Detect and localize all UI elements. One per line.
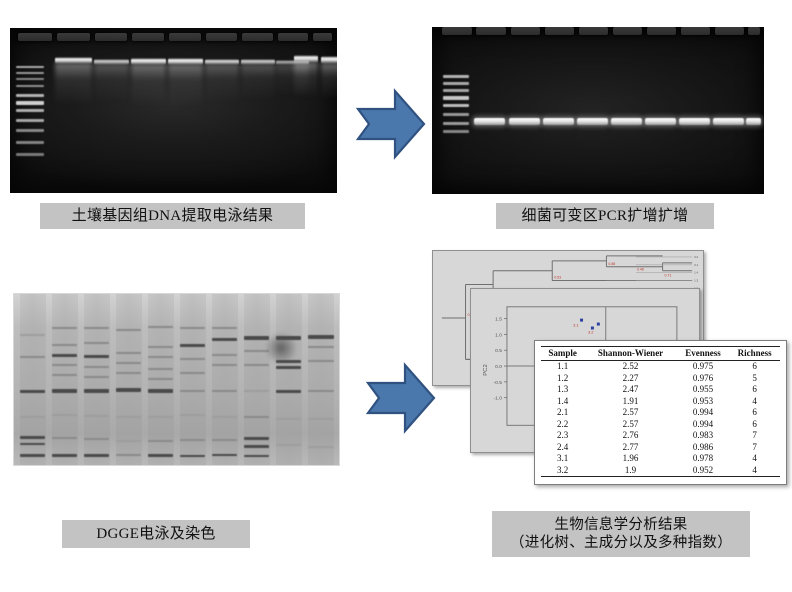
table-row: 1.1 2.52 0.975 6 [541,361,780,373]
caption-pcr: 细菌可变区PCR扩增扩增 [496,203,714,229]
svg-text:1.5: 1.5 [495,317,502,323]
svg-text:-1.0: -1.0 [494,396,503,402]
col-header-sample: Sample [541,347,584,361]
svg-text:-0.5: -0.5 [494,380,503,386]
table-row: 2.2 2.57 0.994 6 [541,419,780,431]
svg-text:1.4: 1.4 [694,271,698,275]
arrow-step-3-to-4 [365,356,437,440]
svg-text:3.1: 3.1 [694,263,698,267]
arrow-step-1-to-2 [355,82,427,166]
dgge-gel-silver-stained [13,293,340,466]
svg-text:0.88: 0.88 [608,262,615,266]
svg-text:1.3: 1.3 [694,279,698,283]
svg-text:3.1: 3.1 [573,323,578,328]
agarose-gel-genomic-dna [10,28,337,193]
table-row: 2.4 2.77 0.986 7 [541,442,780,454]
table-row: 2.3 2.76 0.983 7 [541,430,780,442]
table-row: 3.2 1.9 0.952 4 [541,465,780,477]
svg-text:0.0: 0.0 [495,364,502,370]
slide-canvas: 土壤基因组DNA提取电泳结果 细菌可变区PCR扩增扩增 [0,0,792,592]
col-header-evenness: Evenness [677,347,730,361]
col-header-richness: Richness [729,347,780,361]
svg-text:0.71: 0.71 [665,274,672,278]
svg-text:3.2: 3.2 [694,255,698,259]
table-row: 1.3 2.47 0.955 6 [541,384,780,396]
table-header-row: Sample Shannon-Wiener Evenness Richness [541,347,780,361]
caption-genomic-dna: 土壤基因组DNA提取电泳结果 [40,203,305,229]
table-row: 1.4 1.91 0.953 4 [541,396,780,408]
svg-text:0.5: 0.5 [495,348,502,354]
caption-dgge: DGGE电泳及染色 [62,520,250,548]
diversity-indices-table: Sample Shannon-Wiener Evenness Richness … [534,340,787,485]
svg-text:3.2: 3.2 [588,329,593,334]
table-row: 3.1 1.96 0.978 4 [541,453,780,465]
caption-bioinformatics: 生物信息学分析结果 （进化树、主成分以及多种指数） [492,511,750,557]
gel-wells-row [10,33,337,42]
svg-text:1.0: 1.0 [495,332,502,338]
table-row: 1.2 2.27 0.976 5 [541,373,780,385]
table-row: 2.1 2.57 0.994 6 [541,407,780,419]
svg-text:PC2: PC2 [483,364,489,376]
svg-text:0.53: 0.53 [554,276,561,280]
svg-text:0.46: 0.46 [637,268,644,272]
table-body: 1.1 2.52 0.975 6 1.2 2.27 0.976 5 1.3 2.… [541,361,780,477]
bioinformatics-results-stack: 0.67 0.53 0.88 0.46 0.71 3.23.1 1.41.3 1… [432,250,732,500]
col-header-shannon-wiener: Shannon-Wiener [584,347,676,361]
agarose-gel-pcr-product [432,27,764,194]
